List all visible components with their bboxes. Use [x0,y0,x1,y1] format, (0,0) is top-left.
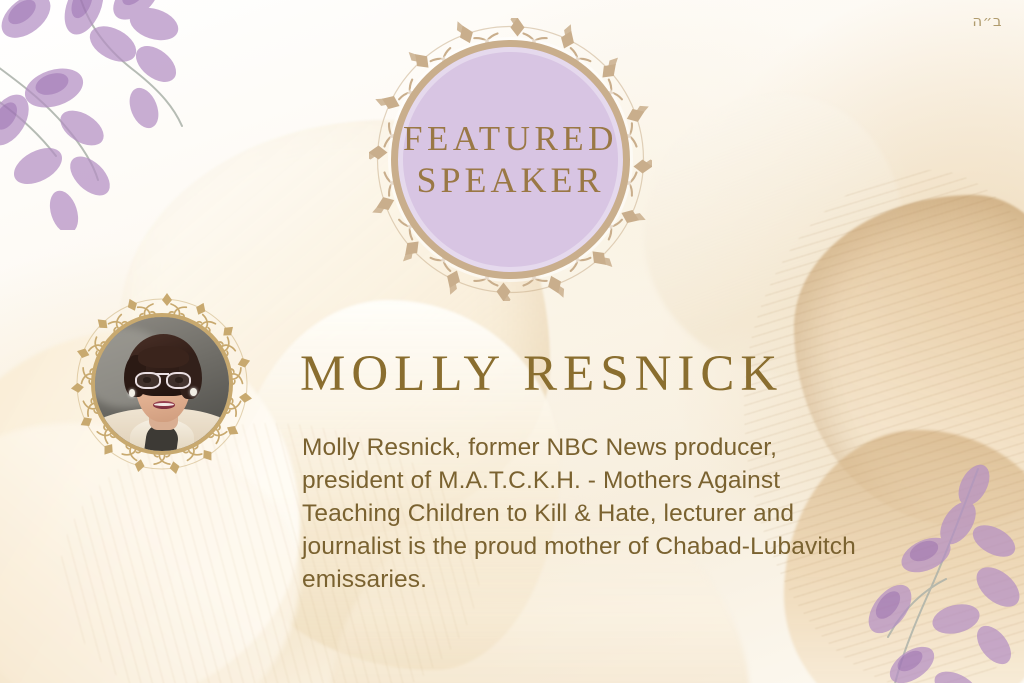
hebrew-blessing-text: ב״ה [972,12,1002,30]
speaker-name: Molly Resnick [300,349,783,400]
speaker-portrait-medallion [70,292,254,476]
badge-label-line2: Speaker [416,160,604,200]
portrait-ring [91,313,233,455]
speaker-photo [95,317,229,451]
featured-speaker-flyer: ב״ה [0,0,1024,683]
badge-label-line1: Featured [403,119,618,158]
badge-label-group: Featured Speaker [391,40,630,279]
speaker-bio: Molly Resnick, former NBC News producer,… [302,432,882,597]
featured-speaker-badge: Featured Speaker [369,18,652,301]
